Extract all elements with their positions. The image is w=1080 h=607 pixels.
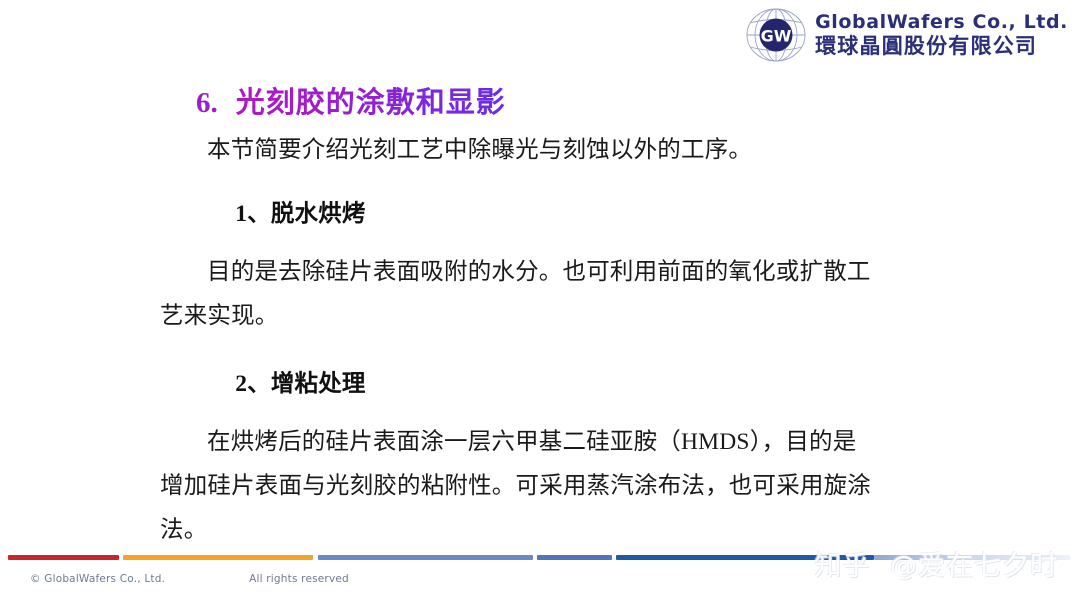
footer-bar-blue-mid bbox=[537, 555, 612, 560]
brand-wordmark: GlobalWafers Co., Ltd. 環球晶圓股份有限公司 bbox=[815, 13, 1068, 57]
section-1-heading: 1、脱水烘烤 bbox=[160, 192, 880, 236]
slide-canvas: GW GlobalWafers Co., Ltd. 環球晶圓股份有限公司 6. … bbox=[0, 0, 1080, 607]
svg-text:GW: GW bbox=[761, 27, 792, 46]
slide-footer: © GlobalWafers Co., Ltd. All rights rese… bbox=[0, 545, 1080, 607]
footer-rights: All rights reserved bbox=[249, 573, 349, 585]
intro-paragraph: 本节简要介绍光刻工艺中除曝光与刻蚀以外的工序。 bbox=[160, 128, 880, 172]
footer-legal: © GlobalWafers Co., Ltd. All rights rese… bbox=[30, 573, 349, 585]
brand-name-en: GlobalWafers Co., Ltd. bbox=[815, 13, 1068, 33]
spacer bbox=[160, 172, 880, 192]
slide-title-number: 6. bbox=[196, 87, 218, 120]
footer-bar-blue-dark bbox=[616, 555, 874, 560]
footer-bar-blue-light bbox=[318, 555, 533, 560]
footer-rule-bars bbox=[0, 555, 1080, 561]
footer-bar-red bbox=[8, 555, 119, 560]
footer-copyright: © GlobalWafers Co., Ltd. bbox=[30, 573, 165, 585]
footer-bar-amber bbox=[123, 555, 313, 560]
slide-title: 6. 光刻胶的涂敷和显影 bbox=[196, 79, 506, 121]
spacer bbox=[160, 236, 880, 250]
brand-name-cn: 環球晶圓股份有限公司 bbox=[815, 35, 1068, 57]
spacer bbox=[160, 406, 880, 420]
slide-title-text: 光刻胶的涂敷和显影 bbox=[236, 79, 506, 121]
section-2-heading: 2、增粘处理 bbox=[160, 362, 880, 406]
section-1-paragraph: 目的是去除硅片表面吸附的水分。也可利用前面的氧化或扩散工艺来实现。 bbox=[160, 250, 880, 338]
brand-logo: GW GlobalWafers Co., Ltd. 環球晶圓股份有限公司 bbox=[745, 6, 1068, 64]
footer-bar-fade bbox=[874, 555, 1070, 560]
slide-body: 本节简要介绍光刻工艺中除曝光与刻蚀以外的工序。 1、脱水烘烤 目的是去除硅片表面… bbox=[160, 128, 880, 552]
globe-icon: GW bbox=[745, 6, 807, 64]
section-2-paragraph: 在烘烤后的硅片表面涂一层六甲基二硅亚胺（HMDS），目的是增加硅片表面与光刻胶的… bbox=[160, 420, 880, 552]
spacer bbox=[160, 338, 880, 362]
